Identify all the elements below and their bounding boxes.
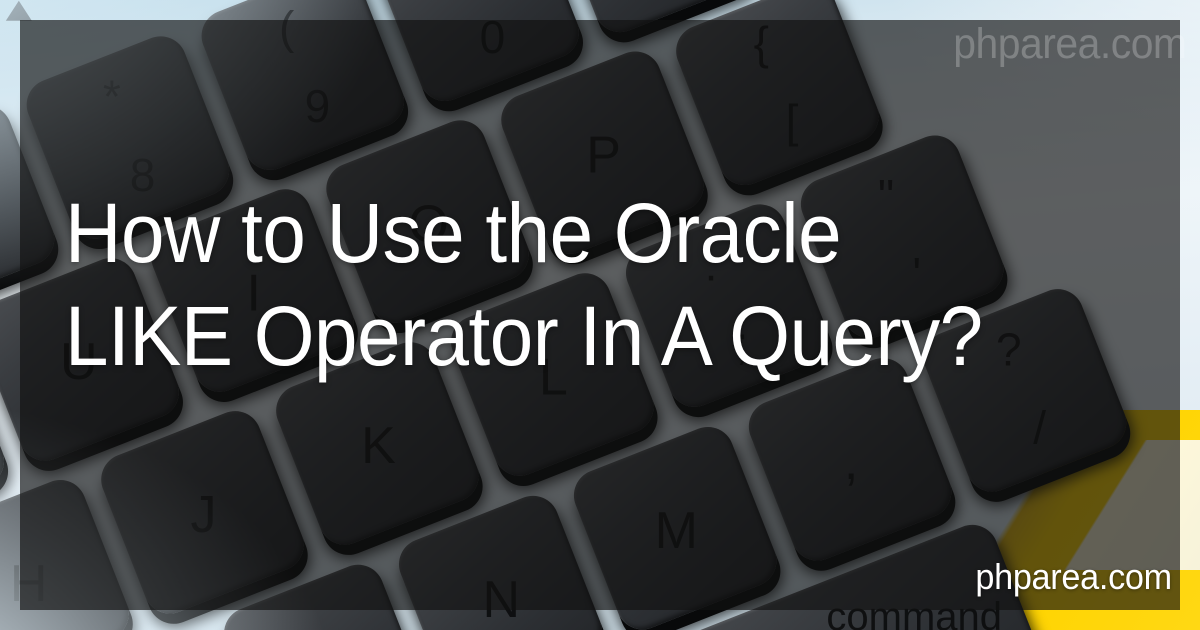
brightness-up-icon — [6, 1, 32, 21]
page-title-line-1: How to Use the Oracle — [65, 182, 1051, 285]
og-image-card: ^ 6 & 7 * 8 ( 9 ) 0 — [0, 0, 1200, 630]
brand-bottom-right: phparea.com — [975, 556, 1172, 598]
page-title: How to Use the Oracle LIKE Operator In A… — [65, 182, 1051, 388]
page-title-line-2: LIKE Operator In A Query? — [65, 285, 1051, 388]
watermark-top-right: phparea.com — [953, 20, 1186, 69]
